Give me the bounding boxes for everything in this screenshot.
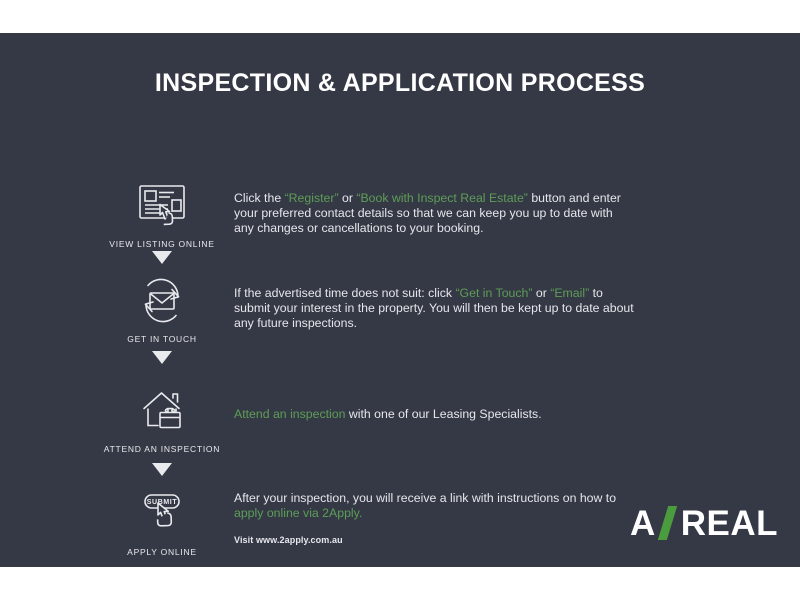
step-text-segment: After your inspection, you will receive … xyxy=(234,491,616,505)
step-body-text: Attend an inspection with one of our Lea… xyxy=(234,407,634,422)
submit-button-click-icon: SUBMIT xyxy=(98,486,226,542)
step-label: APPLY ONLINE xyxy=(98,547,226,557)
step-text-segment: with one of our Leasing Specialists. xyxy=(345,407,541,421)
step-text-highlight: apply online via 2Apply. xyxy=(234,506,362,520)
svg-text:SUBMIT: SUBMIT xyxy=(147,499,178,506)
connector-arrow-2 xyxy=(98,351,226,369)
step-text-segment: or xyxy=(532,286,550,300)
envelope-refresh-icon xyxy=(98,273,226,329)
step-icon-column: SUBMIT APPLY ONLINE xyxy=(98,486,226,557)
step-text-highlight: Attend an inspection xyxy=(234,407,345,421)
step-label: ATTEND AN INSPECTION xyxy=(98,444,226,454)
step-text-highlight: “Email” xyxy=(550,286,589,300)
house-briefcase-icon xyxy=(98,383,226,439)
company-logo: A REAL xyxy=(630,503,778,543)
step-label: VIEW LISTING ONLINE xyxy=(98,239,226,249)
slide-canvas: INSPECTION & APPLICATION PROCESS VIEW LI xyxy=(0,33,800,567)
step-text-highlight: “Register” xyxy=(285,191,339,205)
logo-slash-icon xyxy=(658,506,677,540)
logo-text-right: REAL xyxy=(681,506,778,541)
page-title: INSPECTION & APPLICATION PROCESS xyxy=(0,69,800,98)
step-body-text: If the advertised time does not suit: cl… xyxy=(234,286,634,332)
connector-arrow-1 xyxy=(98,251,226,269)
step-paragraph: After your inspection, you will receive … xyxy=(234,491,634,521)
step-body-text: Click the “Register” or “Book with Inspe… xyxy=(234,191,634,237)
visit-url-footnote: Visit www.2apply.com.au xyxy=(234,533,634,548)
step-icon-column: GET IN TOUCH xyxy=(98,273,226,344)
listing-page-click-icon xyxy=(98,178,226,234)
step-text-highlight: “Book with Inspect Real Estate” xyxy=(356,191,528,205)
chevron-down-icon xyxy=(152,463,172,476)
step-text-segment: or xyxy=(339,191,357,205)
step-label: GET IN TOUCH xyxy=(98,334,226,344)
connector-arrow-3 xyxy=(98,463,226,481)
step-text-segment: If the advertised time does not suit: cl… xyxy=(234,286,455,300)
chevron-down-icon xyxy=(152,351,172,364)
logo-text-left: A xyxy=(630,506,656,541)
step-text-highlight: “Get in Touch” xyxy=(455,286,532,300)
step-body-text: After your inspection, you will receive … xyxy=(234,491,634,549)
chevron-down-icon xyxy=(152,251,172,264)
step-icon-column: VIEW LISTING ONLINE xyxy=(98,178,226,249)
step-icon-column: ATTEND AN INSPECTION xyxy=(98,383,226,454)
step-text-segment: Click the xyxy=(234,191,285,205)
